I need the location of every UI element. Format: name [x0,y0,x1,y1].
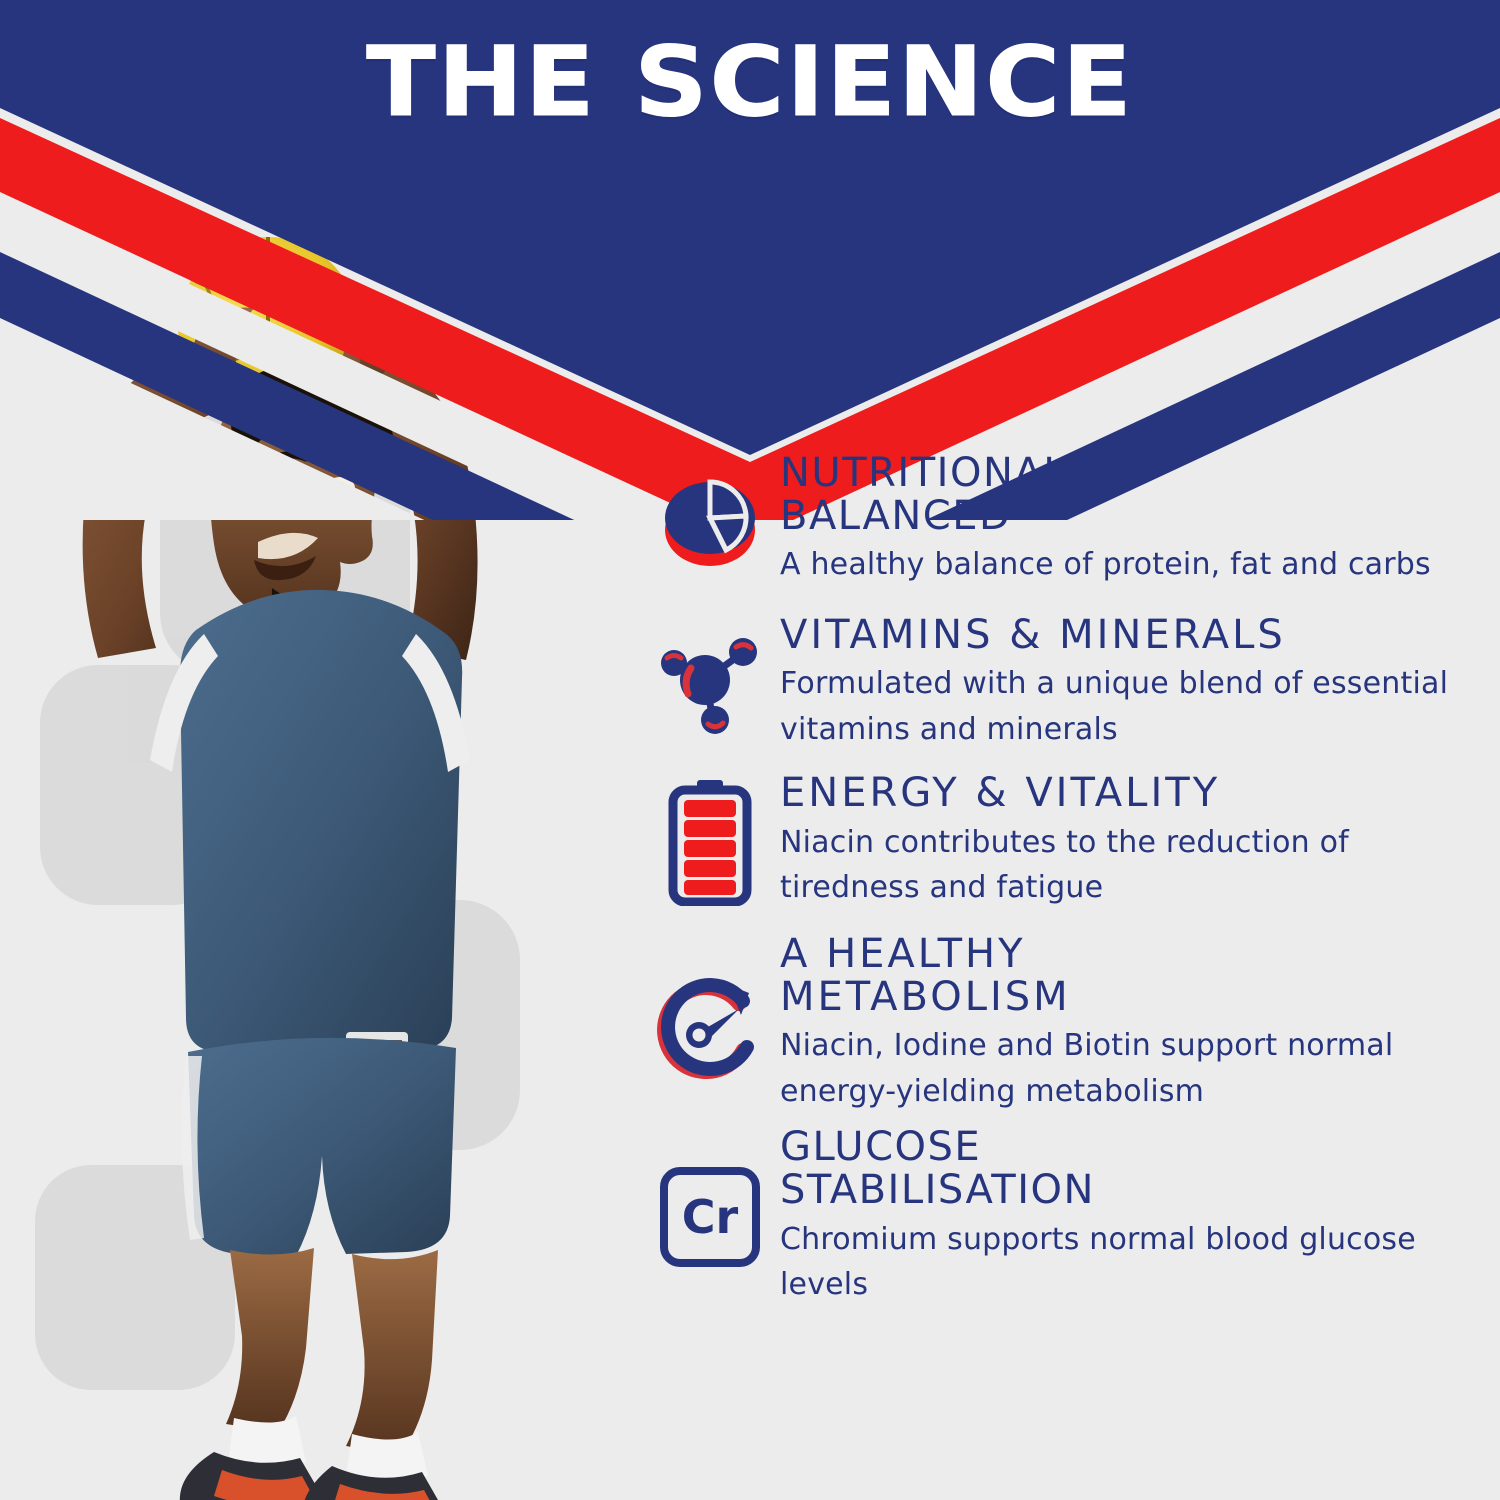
feature-title: ENERGY & VITALITY [780,772,1464,815]
feature-item-glucose-stabilisation[interactable]: Cr GLUCOSE STABILISATION Chromium suppor… [640,1126,1470,1308]
feature-description: Niacin, Iodine and Biotin support normal… [780,1023,1464,1114]
feature-text: NUTRITIONALLY BALANCED A healthy balance… [780,452,1470,588]
feature-title: VITAMINS & MINERALS [780,614,1464,657]
feature-title: A HEALTHY METABOLISM [780,933,1464,1019]
feature-item-vitamins-minerals[interactable]: VITAMINS & MINERALS Formulated with a un… [640,614,1470,752]
chromium-element-icon: Cr [640,1165,780,1269]
feature-text: GLUCOSE STABILISATION Chromium supports … [780,1126,1470,1308]
feature-text: ENERGY & VITALITY Niacin contributes to … [780,772,1470,910]
speedometer-icon [640,969,780,1079]
infographic-poster: THE SCIENCE NUTRITIONALLY BALANCED A hea… [0,0,1500,1500]
feature-description: A healthy balance of protein, fat and ca… [780,542,1464,588]
page-title: THE SCIENCE [0,34,1500,130]
feature-text: VITAMINS & MINERALS Formulated with a un… [780,614,1470,752]
pie-chart-icon [640,468,780,572]
element-symbol: Cr [682,1190,739,1244]
feature-title: GLUCOSE STABILISATION [780,1126,1464,1212]
feature-text: A HEALTHY METABOLISM Niacin, Iodine and … [780,933,1470,1115]
battery-icon [640,778,780,906]
feature-list: NUTRITIONALLY BALANCED A healthy balance… [640,452,1470,1308]
feature-description: Formulated with a unique blend of essent… [780,661,1464,752]
jersey [150,590,470,1062]
feature-description: Chromium supports normal blood glucose l… [780,1217,1464,1308]
feature-title: NUTRITIONALLY BALANCED [780,452,1464,538]
feature-item-energy-vitality[interactable]: ENERGY & VITALITY Niacin contributes to … [640,772,1470,910]
feature-description: Niacin contributes to the reduction of t… [780,820,1464,911]
athlete-photo [0,0,640,1500]
molecule-icon [640,628,780,738]
feature-item-healthy-metabolism[interactable]: A HEALTHY METABOLISM Niacin, Iodine and … [640,933,1470,1115]
feature-item-nutritionally-balanced[interactable]: NUTRITIONALLY BALANCED A healthy balance… [640,452,1470,588]
